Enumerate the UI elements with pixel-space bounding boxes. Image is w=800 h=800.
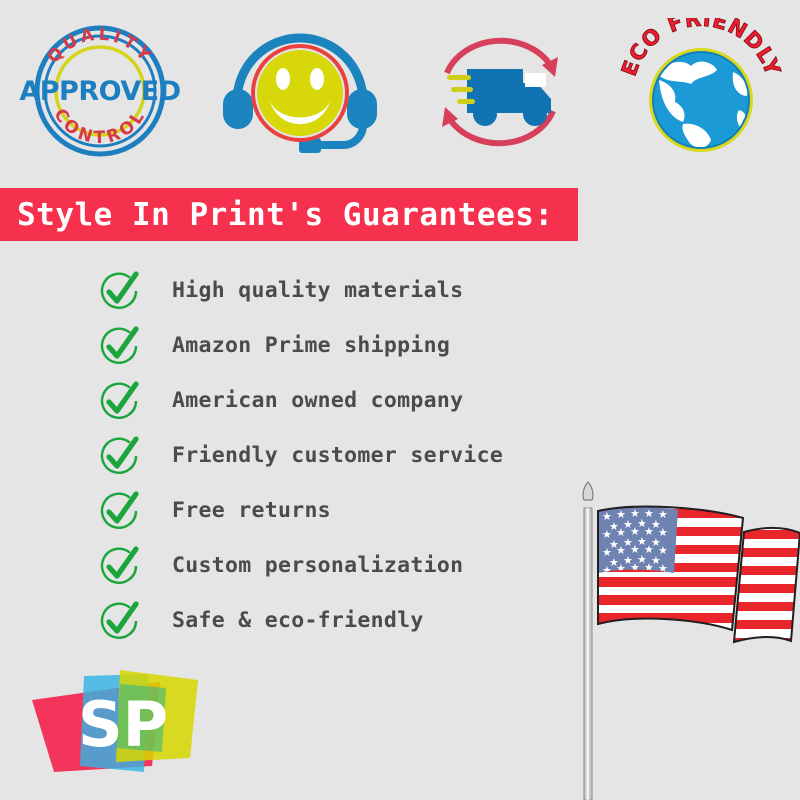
quality-control-approved-icon: QUALITY CONTROL APPROVED [15,21,185,161]
page-title: Style In Print's Guarantees: [0,197,554,233]
american-flag-graphic: ★★★★★ ★★★★ ★★★★★ ★★★★ ★★★★★ ★★★★ ★★★★★ [558,478,800,800]
list-item-label: High quality materials [172,278,463,303]
american-flag-icon: ★★★★★ ★★★★ ★★★★★ ★★★★ ★★★★★ ★★★★ ★★★★★ [558,478,800,800]
style-in-print-logo: SP [32,662,222,787]
list-item-label: Amazon Prime shipping [172,333,450,358]
guarantees-banner: Style In Print's Guarantees: [0,188,578,241]
green-check-circle-icon [96,268,142,314]
guarantees-infographic: QUALITY CONTROL APPROVED [0,0,800,800]
list-item-label: American owned company [172,388,463,413]
customer-service-headset-smiley-badge [200,18,400,163]
green-check-circle-icon [96,543,142,589]
list-item: Friendly customer service [96,428,656,483]
green-check-circle-icon [96,488,142,534]
list-item: Amazon Prime shipping [96,318,656,373]
list-item: High quality materials [96,263,656,318]
green-check-circle-icon [96,598,142,644]
list-item-label: Friendly customer service [172,443,503,468]
green-check-circle-icon [96,378,142,424]
eco-friendly-globe-icon: ECO FRIENDLY [613,18,788,163]
svg-text:APPROVED: APPROVED [19,76,180,107]
quality-control-approved-badge: QUALITY CONTROL APPROVED [0,18,200,163]
fast-shipping-truck-badge [400,18,600,163]
list-item-label: Free returns [172,498,331,523]
eco-friendly-globe-badge: ECO FRIENDLY [600,18,800,163]
sp-logo-icon: SP [32,662,222,787]
list-item-label: Safe & eco-friendly [172,608,424,633]
shipping-truck-icon [415,21,585,161]
sp-logo-text: SP [78,688,168,761]
list-item: American owned company [96,373,656,428]
green-check-circle-icon [96,433,142,479]
badge-row: QUALITY CONTROL APPROVED [0,18,800,163]
headset-smiley-icon [215,21,385,161]
green-check-circle-icon [96,323,142,369]
list-item-label: Custom personalization [172,553,463,578]
